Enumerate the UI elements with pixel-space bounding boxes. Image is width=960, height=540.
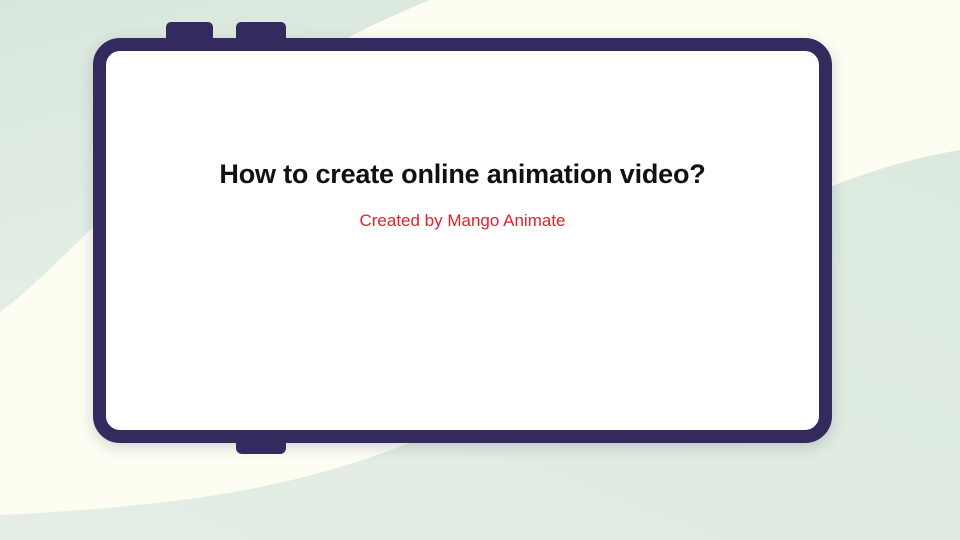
tablet-screen: How to create online animation video? Cr… (106, 51, 819, 430)
tablet-device-frame: How to create online animation video? Cr… (93, 38, 832, 443)
slide-title: How to create online animation video? (106, 158, 819, 190)
slide-subtitle: Created by Mango Animate (106, 211, 819, 231)
slide-canvas: How to create online animation video? Cr… (0, 0, 960, 540)
